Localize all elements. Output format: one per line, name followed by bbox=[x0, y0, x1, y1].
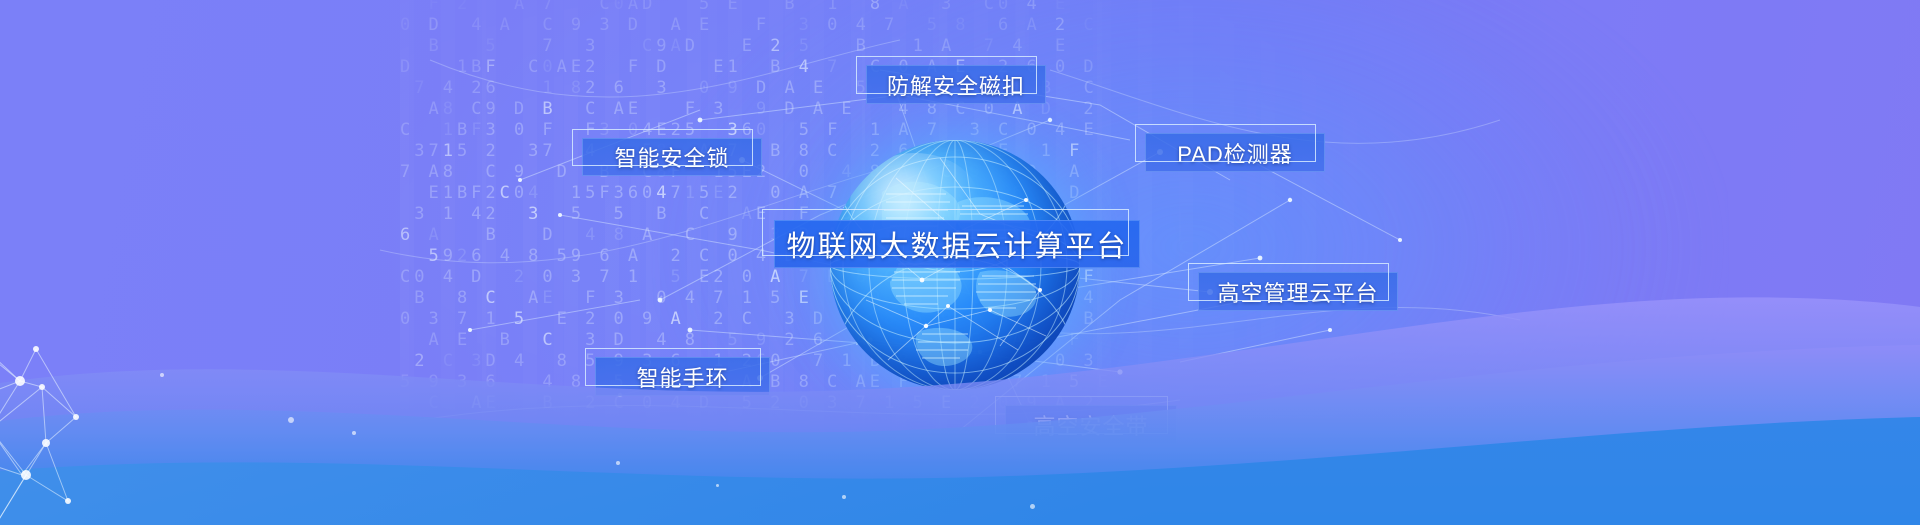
node-label-pad-detector[interactable]: PAD检测器 bbox=[1145, 133, 1325, 172]
node-label-smart-lock[interactable]: 智能安全锁 bbox=[582, 138, 762, 176]
wave-decoration bbox=[0, 295, 1920, 525]
hero-banner: F 2 A 7 C0AD 5 E B 1 8 A 3 C0 4 E0 D 4 A… bbox=[0, 0, 1920, 525]
center-label-platform[interactable]: 物联网大数据云计算平台 bbox=[774, 220, 1140, 268]
node-label-magnetic-buckle[interactable]: 防解安全磁扣 bbox=[866, 65, 1046, 104]
particle bbox=[352, 431, 356, 435]
particle bbox=[616, 461, 620, 465]
particle bbox=[288, 417, 294, 423]
particle bbox=[716, 484, 719, 487]
particle bbox=[160, 373, 164, 377]
particle bbox=[842, 495, 846, 499]
particle bbox=[1030, 504, 1035, 509]
